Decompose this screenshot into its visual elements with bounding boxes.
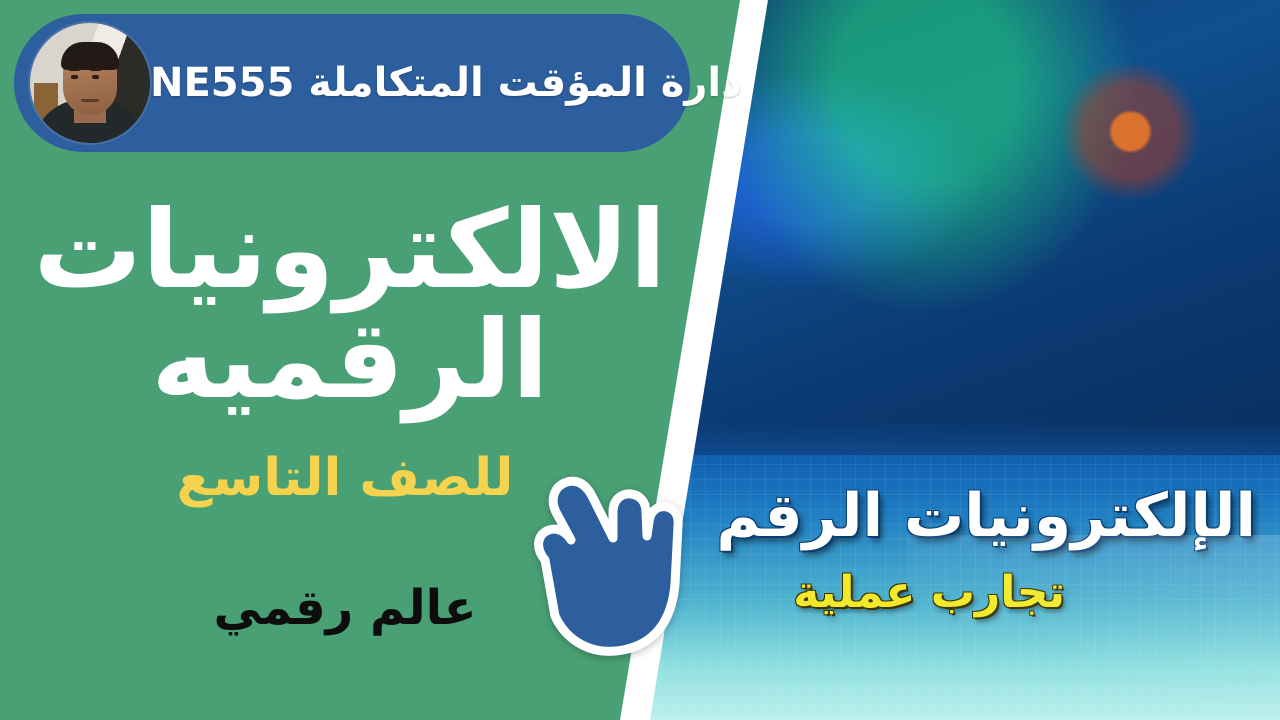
page-title: الالكترونيات الرقميه <box>0 196 700 416</box>
headline-line-2: الرقميه <box>0 306 700 416</box>
thumbnail-stage: الإلكترونيات الرقم تجارب عملية دارة المؤ… <box>0 0 1280 720</box>
avatar <box>30 23 150 143</box>
headline-line-1: الالكترونيات <box>34 188 667 313</box>
pcb-traces <box>1200 0 1280 470</box>
cover-subtitle: تجارب عملية <box>793 567 1065 618</box>
pointing-hand-cursor-icon <box>527 452 687 657</box>
header-pill: دارة المؤقت المتكاملة NE555 <box>14 14 690 152</box>
header-pill-title: دارة المؤقت المتكاملة NE555 <box>150 60 742 106</box>
cover-title: الإلكترونيات الرقم <box>716 481 1256 551</box>
book-cover-region: الإلكترونيات الرقم تجارب عملية <box>600 455 1280 720</box>
